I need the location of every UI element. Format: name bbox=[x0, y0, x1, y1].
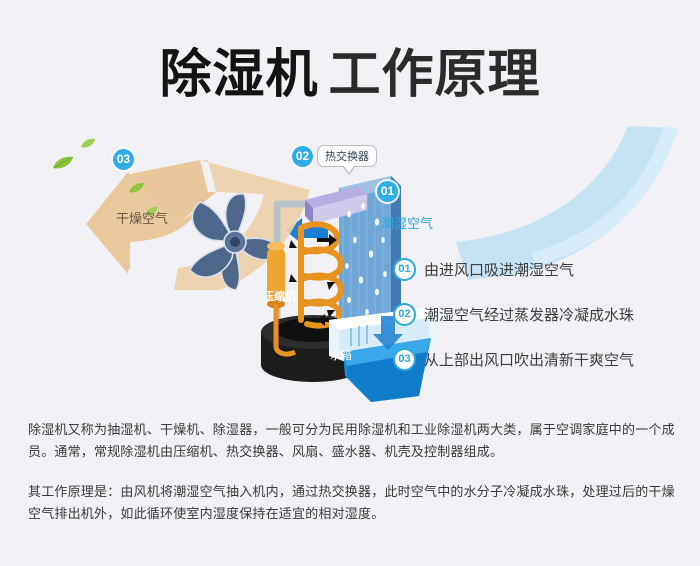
badge-02-heat-exchanger: 02 bbox=[292, 146, 313, 167]
heat-exchanger-callout: 热交换器 bbox=[317, 145, 377, 167]
legend-text-01: 由进风口吸进潮湿空气 bbox=[424, 259, 574, 280]
dry-air-label: 干燥空气 bbox=[116, 208, 168, 227]
paragraph-2: 其工作原理是：由风机将潮湿空气抽入机内，通过热交换器，此时空气中的水分子冷凝成水… bbox=[28, 482, 676, 526]
page-title: 除湿机工作原理 bbox=[0, 32, 700, 107]
humid-air-label: 潮湿空气 bbox=[381, 213, 433, 232]
poster-canvas: 除湿机工作原理 bbox=[0, 0, 700, 566]
legend-badge-01: 01 bbox=[393, 258, 416, 281]
leaf-icon bbox=[80, 138, 96, 149]
page-title-part2: 工作原理 bbox=[319, 45, 541, 105]
legend-text-03: 从上部出风口吹出清新干爽空气 bbox=[424, 349, 634, 370]
legend-item: 03 从上部出风口吹出清新干爽空气 bbox=[393, 348, 693, 371]
legend-item: 01 由进风口吸进潮湿空气 bbox=[393, 258, 693, 281]
water-tank-label: 水箱 bbox=[330, 347, 352, 363]
badge-03-dry-air: 03 bbox=[113, 149, 134, 170]
badge-01-humid-air: 01 bbox=[377, 181, 398, 202]
legend-badge-03: 03 bbox=[393, 348, 416, 371]
page-title-part1: 除湿机 bbox=[159, 45, 318, 105]
legend-badge-02: 02 bbox=[393, 303, 416, 326]
legend-item: 02 潮湿空气经过蒸发器冷凝成水珠 bbox=[393, 303, 693, 326]
legend-list: 01 由进风口吸进潮湿空气 02 潮湿空气经过蒸发器冷凝成水珠 03 从上部出风… bbox=[393, 258, 693, 393]
leaf-icon bbox=[52, 156, 74, 170]
paragraph-1: 除湿机又称为抽湿机、干燥机、除湿器，一般可分为民用除湿机和工业除湿机两大类，属于… bbox=[28, 420, 676, 464]
legend-text-02: 潮湿空气经过蒸发器冷凝成水珠 bbox=[424, 304, 634, 325]
compressor-label: 压缩机 bbox=[263, 288, 296, 304]
body-copy: 除湿机又称为抽湿机、干燥机、除湿器，一般可分为民用除湿机和工业除湿机两大类，属于… bbox=[28, 420, 676, 544]
leaf-icon bbox=[128, 182, 145, 194]
